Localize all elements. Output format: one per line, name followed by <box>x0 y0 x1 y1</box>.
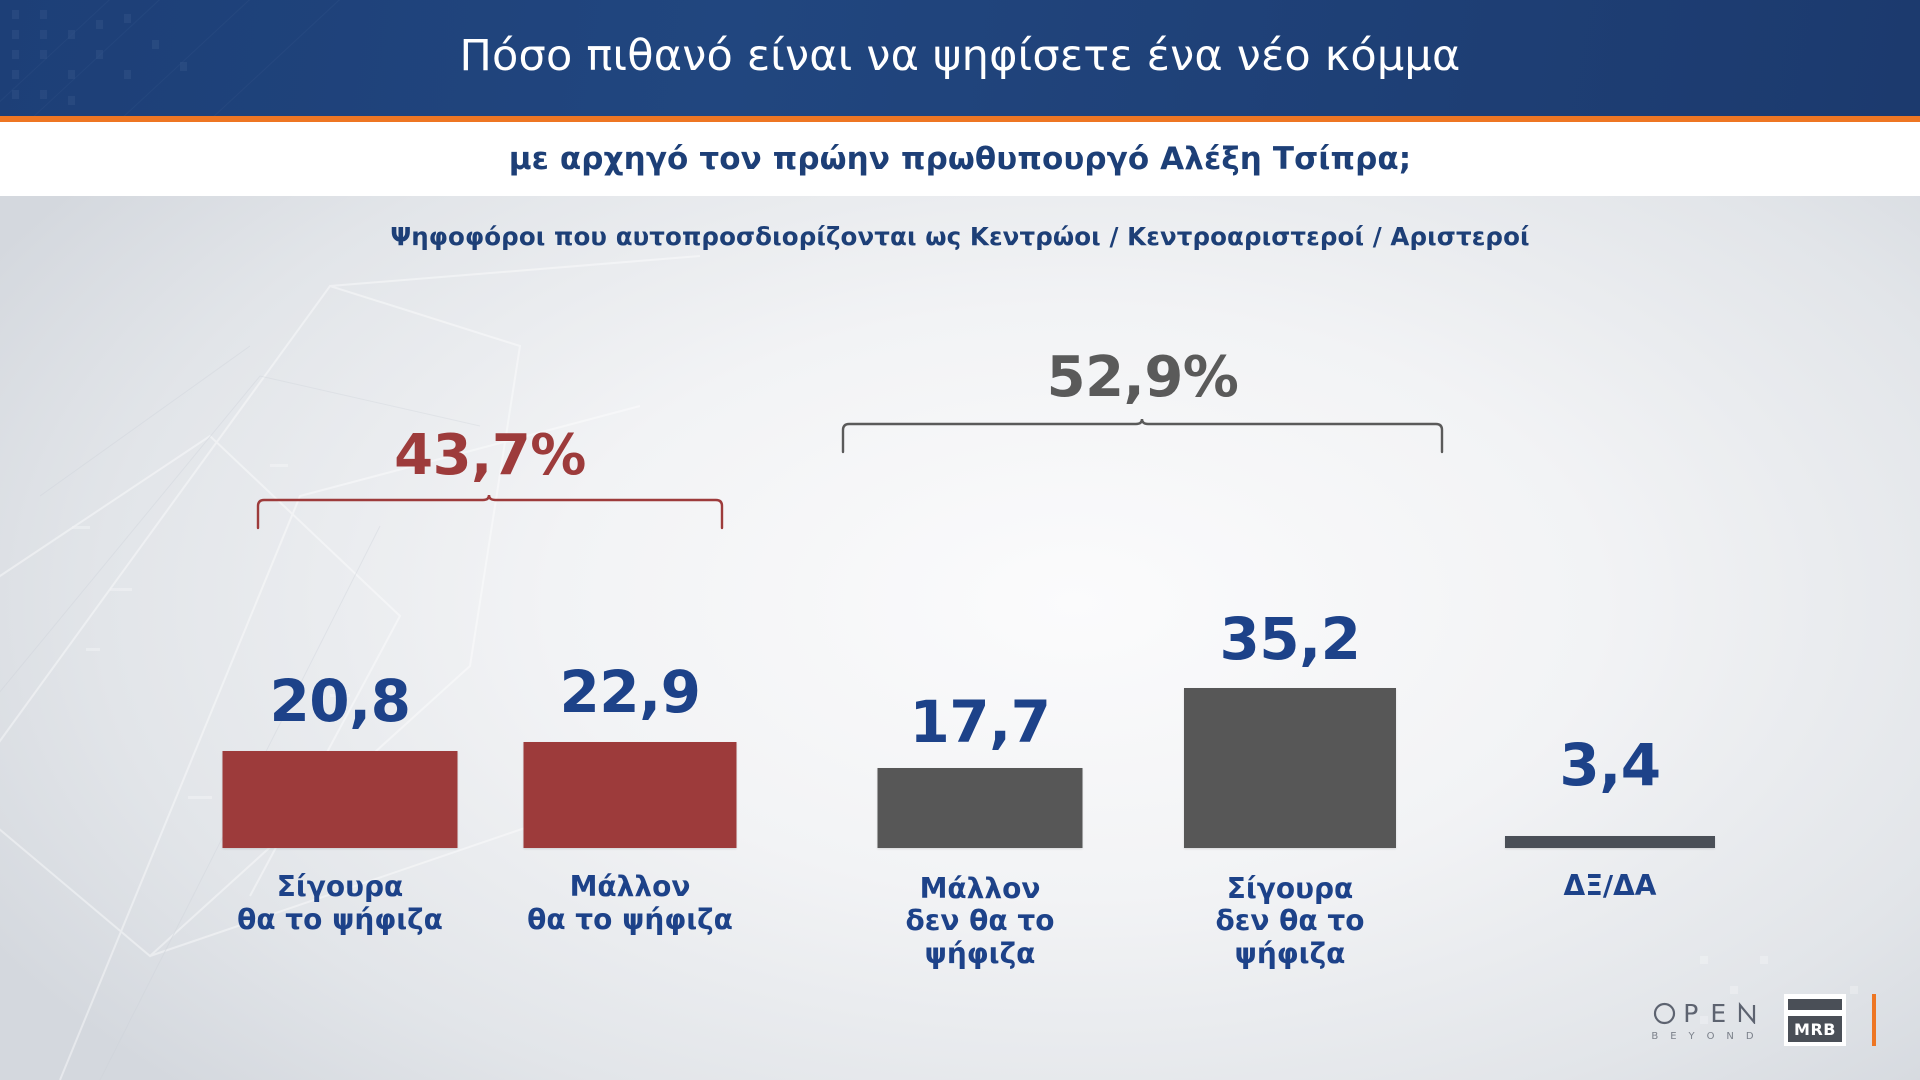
orange-tick-mark <box>1872 994 1876 1046</box>
bar-value-3: 35,2 <box>1140 610 1440 668</box>
bar-slot-1[interactable]: 22,9 Μάλλον θα το ψήφιζα <box>480 460 780 1080</box>
open-logo-p: P <box>1683 999 1703 1028</box>
bar-value-0: 20,8 <box>190 672 490 730</box>
open-beyond-logo: P E B E Y O N D <box>1651 999 1758 1042</box>
page-subtitle: με αρχηγό τον πρώην πρωθυπουργό Αλέξη Τσ… <box>509 141 1412 177</box>
bar-slot-4[interactable]: 3,4 ΔΞ/ΔΑ <box>1460 460 1760 1080</box>
bar-rect-3[interactable] <box>1184 688 1396 848</box>
open-n-icon <box>1738 1002 1756 1024</box>
bar-chart: 43,7% 52,9% 20,8 Σίγουρα θα το ψήφιζα 22… <box>0 196 1920 1080</box>
mrb-logo: MRB <box>1784 994 1846 1046</box>
bar-label-0: Σίγουρα θα το ψήφιζα <box>190 871 490 936</box>
bar-rect-1[interactable] <box>524 742 737 848</box>
bar-rect-0[interactable] <box>223 751 458 848</box>
bar-value-1: 22,9 <box>480 663 780 721</box>
bar-rect-4[interactable] <box>1505 836 1715 848</box>
open-logo-wordmark: P E <box>1653 999 1756 1028</box>
open-logo-tagline: B E Y O N D <box>1651 1031 1758 1042</box>
chart-canvas: Ψηφοφόροι που αυτοπροσδιορίζονται ως Κεν… <box>0 196 1920 1080</box>
header-band: Πόσο πιθανό είναι να ψηφίσετε ένα νέο κό… <box>0 0 1920 116</box>
group-total-negative: 52,9% <box>840 350 1445 406</box>
bar-rect-2[interactable] <box>878 768 1083 848</box>
bar-slot-0[interactable]: 20,8 Σίγουρα θα το ψήφιζα <box>190 460 490 1080</box>
open-logo-e: E <box>1710 999 1731 1028</box>
footer-logos: P E B E Y O N D MRB <box>1651 994 1876 1046</box>
open-o-icon <box>1653 1002 1676 1025</box>
bar-label-3: Σίγουρα δεν θα το ψήφιζα <box>1140 873 1440 970</box>
group-bracket-negative: 52,9% <box>840 418 1445 454</box>
page-title: Πόσο πιθανό είναι να ψηφίσετε ένα νέο κό… <box>0 0 1920 116</box>
bar-label-1: Μάλλον θα το ψήφιζα <box>480 871 780 936</box>
bar-label-4: ΔΞ/ΔΑ <box>1460 870 1760 902</box>
mrb-logo-bar <box>1788 999 1842 1010</box>
subtitle-band: με αρχηγό τον πρώην πρωθυπουργό Αλέξη Τσ… <box>0 122 1920 196</box>
bar-slot-2[interactable]: 17,7 Μάλλον δεν θα το ψήφιζα <box>830 460 1130 1080</box>
mrb-logo-text: MRB <box>1788 1016 1842 1042</box>
bar-slot-3[interactable]: 35,2 Σίγουρα δεν θα το ψήφιζα <box>1140 460 1440 1080</box>
bar-label-2: Μάλλον δεν θα το ψήφιζα <box>830 873 1130 970</box>
bar-value-4: 3,4 <box>1460 736 1760 794</box>
bar-value-2: 17,7 <box>830 693 1130 751</box>
